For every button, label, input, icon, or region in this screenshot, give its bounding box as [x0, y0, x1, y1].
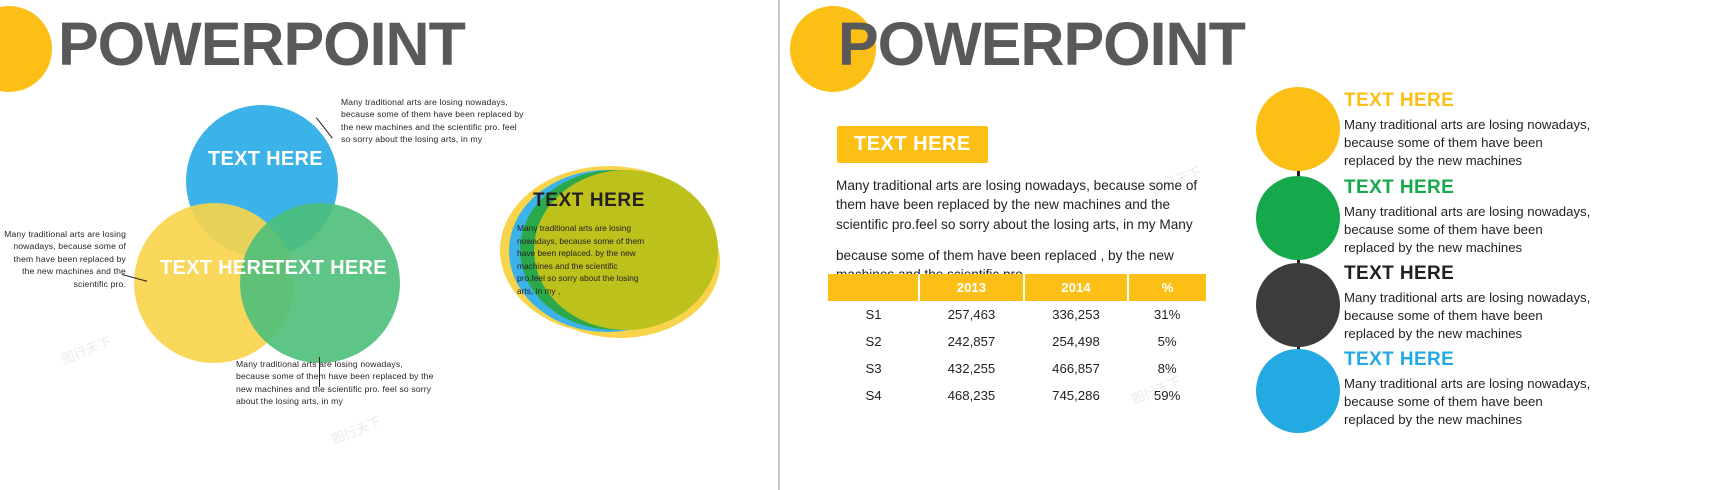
bullet-dot-4: [1256, 349, 1340, 433]
bullet-body-1: Many traditional arts are losing nowaday…: [1344, 116, 1592, 170]
paragraph-1: Many traditional arts are losing nowaday…: [836, 176, 1202, 234]
page-title-right: POWERPOINT: [838, 14, 1245, 75]
bullet-body-4: Many traditional arts are losing nowaday…: [1344, 375, 1592, 429]
table-header-cell: 2013: [919, 274, 1024, 301]
page-title-left: POWERPOINT: [58, 14, 465, 75]
bullet-title-4: TEXT HERE: [1344, 349, 1454, 371]
table-cell: 8%: [1128, 355, 1206, 382]
venn-label-blue: TEXT HERE: [208, 148, 323, 171]
bullet-title-3: TEXT HERE: [1344, 263, 1454, 285]
note-left: Many traditional arts are losing nowaday…: [2, 228, 126, 290]
table-header-cell: [828, 274, 919, 301]
data-table: 2013 2014 % S1 257,463 336,253 31% S2 24…: [828, 274, 1206, 409]
title-accent-dot-left: [0, 6, 52, 92]
table-cell: 59%: [1128, 382, 1206, 409]
table-body: S1 257,463 336,253 31% S2 242,857 254,49…: [828, 301, 1206, 409]
focus-circle-label: TEXT HERE: [533, 190, 645, 212]
note-top: Many traditional arts are losing nowaday…: [341, 96, 525, 146]
note-bottom: Many traditional arts are losing nowaday…: [236, 358, 436, 408]
table-row: S4 468,235 745,286 59%: [828, 382, 1206, 409]
table-cell: 468,235: [919, 382, 1024, 409]
table-cell: S3: [828, 355, 919, 382]
table-cell: 336,253: [1024, 301, 1129, 328]
bullet-dot-1: [1256, 87, 1340, 171]
table-cell: 432,255: [919, 355, 1024, 382]
table-header-cell: %: [1128, 274, 1206, 301]
bullet-dot-3: [1256, 263, 1340, 347]
bullet-body-3: Many traditional arts are losing nowaday…: [1344, 289, 1592, 343]
slide-divider: [778, 0, 780, 490]
table-row: S2 242,857 254,498 5%: [828, 328, 1206, 355]
venn-label-green: TEXT HERE: [272, 257, 387, 280]
table-row: S1 257,463 336,253 31%: [828, 301, 1206, 328]
focus-circle-body: Many traditional arts are losing nowaday…: [517, 222, 647, 298]
table-cell: S1: [828, 301, 919, 328]
section-tag: TEXT HERE: [837, 126, 988, 163]
table-cell: 257,463: [919, 301, 1024, 328]
screenshot-stage: POWERPOINT TEXT HERE TEXT HERE TEXT HERE…: [0, 0, 1720, 490]
bullet-body-2: Many traditional arts are losing nowaday…: [1344, 203, 1592, 257]
table-cell: S2: [828, 328, 919, 355]
bullet-title-1: TEXT HERE: [1344, 90, 1454, 112]
table-row: S3 432,255 466,857 8%: [828, 355, 1206, 382]
table-cell: 242,857: [919, 328, 1024, 355]
bullet-dot-2: [1256, 176, 1340, 260]
watermark: 图行天下: [328, 411, 383, 448]
table-cell: 254,498: [1024, 328, 1129, 355]
table-header-row: 2013 2014 %: [828, 274, 1206, 301]
watermark: 图行天下: [58, 331, 113, 368]
table-cell: S4: [828, 382, 919, 409]
table-cell: 5%: [1128, 328, 1206, 355]
table-cell: 745,286: [1024, 382, 1129, 409]
venn-circle-green: [240, 203, 400, 363]
bullet-title-2: TEXT HERE: [1344, 177, 1454, 199]
table-cell: 31%: [1128, 301, 1206, 328]
table-cell: 466,857: [1024, 355, 1129, 382]
venn-label-yellow: TEXT HERE: [160, 257, 275, 280]
table-header-cell: 2014: [1024, 274, 1129, 301]
